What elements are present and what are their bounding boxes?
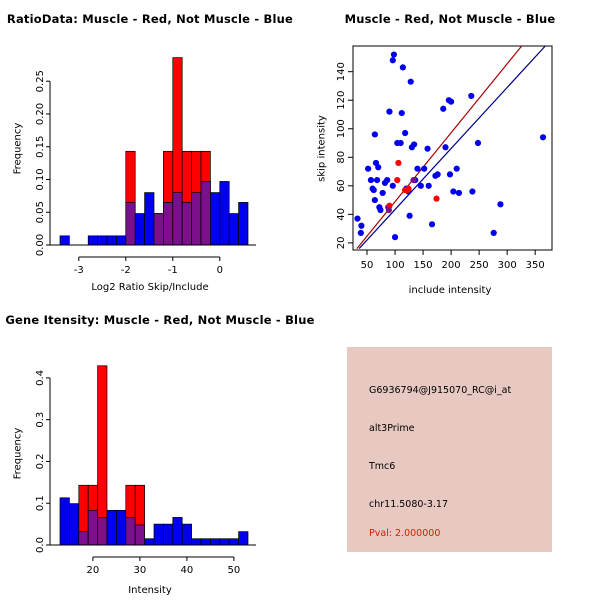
panel-gene-histogram: Gene Itensity: Muscle - Red, Not Muscle … (0, 300, 300, 600)
hist-bars (60, 366, 248, 545)
hist-bar-overlap (163, 202, 172, 245)
info-pval: Pval: 2.000000 (369, 528, 440, 539)
scatter-point (400, 64, 406, 70)
hist-bar (69, 504, 78, 545)
scatter-point (456, 190, 462, 196)
scatter-xlabel: include intensity (300, 285, 600, 296)
scatter-point (411, 141, 417, 147)
scatter-point (374, 177, 380, 183)
scatter-point (468, 93, 474, 99)
scatter-point (450, 188, 456, 194)
hist-bar (145, 539, 154, 545)
y-tick-label: 100 (336, 119, 347, 138)
scatter-point (469, 188, 475, 194)
scatter-point (408, 79, 414, 85)
scatter-point (442, 144, 448, 150)
hist-bar (210, 539, 219, 545)
x-tick-label: 300 (498, 260, 517, 271)
scatter-point (424, 146, 430, 152)
gene-hist-title: Gene Itensity: Muscle - Red, Not Muscle … (0, 313, 320, 327)
scatter-point (414, 166, 420, 172)
gene-hist-ylabel: Frequency (13, 409, 24, 499)
hist-bar-overlap (173, 193, 182, 245)
x-tick-label: 50 (361, 260, 374, 271)
hist-bar (154, 524, 163, 545)
scatter-point (372, 131, 378, 137)
hist-bar (220, 539, 229, 545)
scatter-point (418, 183, 424, 189)
scatter-point (368, 177, 374, 183)
hist-bar (107, 236, 116, 245)
y-tick-label: 0.20 (35, 103, 46, 125)
not-muscle-fit-line (359, 46, 545, 249)
info-event-type: alt3Prime (369, 423, 414, 434)
x-tick-label: 20 (87, 565, 100, 576)
hist-bar (201, 539, 210, 545)
hist-bar-overlap (182, 202, 191, 245)
hist-bar-overlap (79, 532, 88, 545)
muscle-fit-line (357, 43, 524, 248)
scatter-point (365, 166, 371, 172)
y-tick-label: 0.3 (35, 412, 46, 428)
scatter-point (384, 177, 390, 183)
x-tick-label: 350 (526, 260, 545, 271)
plot-frame (353, 46, 552, 250)
y-tick-label: 140 (336, 62, 347, 81)
hist-bar-overlap (201, 181, 210, 245)
y-tick-label: 0.0 (35, 537, 46, 553)
hist-bar (60, 498, 69, 545)
scatter-point (390, 57, 396, 63)
y-tick-label: 80 (336, 151, 347, 164)
scatter-title: Muscle - Red, Not Muscle - Blue (300, 12, 600, 26)
hist-bars (60, 58, 248, 245)
x-tick-label: 0 (217, 265, 223, 276)
ratio-hist-title: RatioData: Muscle - Red, Not Muscle - Bl… (0, 12, 300, 26)
ratio-hist-plot: 0.000.050.100.150.200.25-3-2-10 (0, 0, 300, 300)
scatter-point (435, 171, 441, 177)
hist-bar-overlap (126, 202, 135, 245)
scatter-point (398, 140, 404, 146)
scatter-plot: 2040608010012014050100150200250300350 (300, 0, 600, 300)
panel-ratio-histogram: RatioData: Muscle - Red, Not Muscle - Bl… (0, 0, 300, 300)
x-tick-label: 250 (470, 260, 489, 271)
y-tick-label: 0.10 (35, 168, 46, 190)
hist-bar (182, 524, 191, 545)
info-locus: chr11.5080-3.17 (369, 499, 448, 510)
x-tick-label: 100 (385, 260, 404, 271)
scatter-point (358, 223, 364, 229)
hist-bar-overlap (126, 517, 135, 545)
scatter-point (399, 110, 405, 116)
x-tick-label: 50 (228, 565, 241, 576)
y-tick-label: 120 (336, 91, 347, 110)
hist-bar (210, 193, 219, 245)
scatter-point (354, 216, 360, 222)
hist-bar (98, 236, 107, 245)
reference-lines (357, 43, 545, 248)
hist-bar (116, 510, 125, 545)
scatter-points (354, 51, 546, 240)
hist-bar-overlap (154, 214, 163, 245)
hist-bar (220, 181, 229, 245)
scatter-point (394, 177, 400, 183)
scatter-point (386, 207, 392, 213)
scatter-point (392, 234, 398, 240)
hist-bar-overlap (192, 193, 201, 245)
gene-hist-plot: 0.00.10.20.30.420304050 (0, 300, 300, 600)
hist-bar (173, 517, 182, 545)
hist-bar-overlap (135, 525, 144, 545)
scatter-point (395, 160, 401, 166)
scatter-point (402, 130, 408, 136)
scatter-point (491, 230, 497, 236)
scatter-point (375, 164, 381, 170)
scatter-point (440, 106, 446, 112)
hist-bar (60, 236, 69, 245)
plot-canvas: RatioData: Muscle - Red, Not Muscle - Bl… (0, 0, 600, 600)
x-tick-label: 40 (181, 565, 194, 576)
scatter-point (497, 201, 503, 207)
scatter-point (358, 230, 364, 236)
scatter-point (447, 171, 453, 177)
hist-bar (116, 236, 125, 245)
hist-bar (135, 214, 144, 245)
gene-hist-xlabel: Intensity (0, 585, 300, 596)
hist-bar-overlap (98, 517, 107, 545)
hist-bar (107, 510, 116, 545)
y-tick-label: 0.2 (35, 453, 46, 469)
scatter-point (386, 109, 392, 115)
scatter-point (391, 51, 397, 57)
scatter-point (433, 196, 439, 202)
x-tick-label: 30 (134, 565, 147, 576)
scatter-point (377, 207, 383, 213)
ratio-hist-xlabel: Log2 Ratio Skip/Include (0, 282, 300, 293)
scatter-point (454, 166, 460, 172)
y-tick-label: 40 (336, 208, 347, 221)
info-probe-id: G6936794@J915070_RC@i_at (369, 385, 511, 396)
scatter-point (390, 183, 396, 189)
x-tick-label: -1 (168, 265, 178, 276)
y-tick-label: 0.05 (35, 201, 46, 223)
hist-bar (192, 539, 201, 545)
scatter-point (429, 221, 435, 227)
hist-bar (229, 214, 238, 245)
hist-bar (229, 539, 238, 545)
scatter-point (448, 99, 454, 105)
y-tick-label: 0.15 (35, 136, 46, 158)
scatter-point (371, 187, 377, 193)
scatter-point (421, 166, 427, 172)
hist-bar (239, 202, 248, 245)
ratio-hist-ylabel: Frequency (13, 104, 24, 194)
panel-scatter: Muscle - Red, Not Muscle - Blue 20406080… (300, 0, 600, 300)
scatter-point (540, 134, 546, 140)
scatter-ylabel: skip intensity (317, 104, 328, 194)
x-tick-label: -3 (74, 265, 84, 276)
hist-bar (88, 236, 97, 245)
scatter-point (380, 190, 386, 196)
x-tick-label: -2 (121, 265, 131, 276)
hist-bar (163, 524, 172, 545)
hist-bar (145, 193, 154, 245)
y-tick-label: 0.00 (35, 234, 46, 256)
scatter-point (372, 197, 378, 203)
y-tick-label: 0.4 (35, 370, 46, 386)
x-tick-label: 200 (442, 260, 461, 271)
scatter-point (426, 183, 432, 189)
y-tick-label: 0.1 (35, 495, 46, 511)
scatter-point (405, 186, 411, 192)
x-tick-label: 150 (414, 260, 433, 271)
scatter-point (410, 177, 416, 183)
scatter-point (407, 213, 413, 219)
panel-gene-info: G6936794@J915070_RC@i_at alt3Prime Tmc6 … (347, 347, 552, 552)
scatter-point (475, 140, 481, 146)
info-gene-symbol: Tmc6 (369, 461, 395, 472)
y-tick-label: 60 (336, 179, 347, 192)
hist-bar-overlap (88, 510, 97, 545)
y-tick-label: 0.25 (35, 70, 46, 92)
y-tick-label: 20 (336, 236, 347, 249)
hist-bar (239, 532, 248, 545)
